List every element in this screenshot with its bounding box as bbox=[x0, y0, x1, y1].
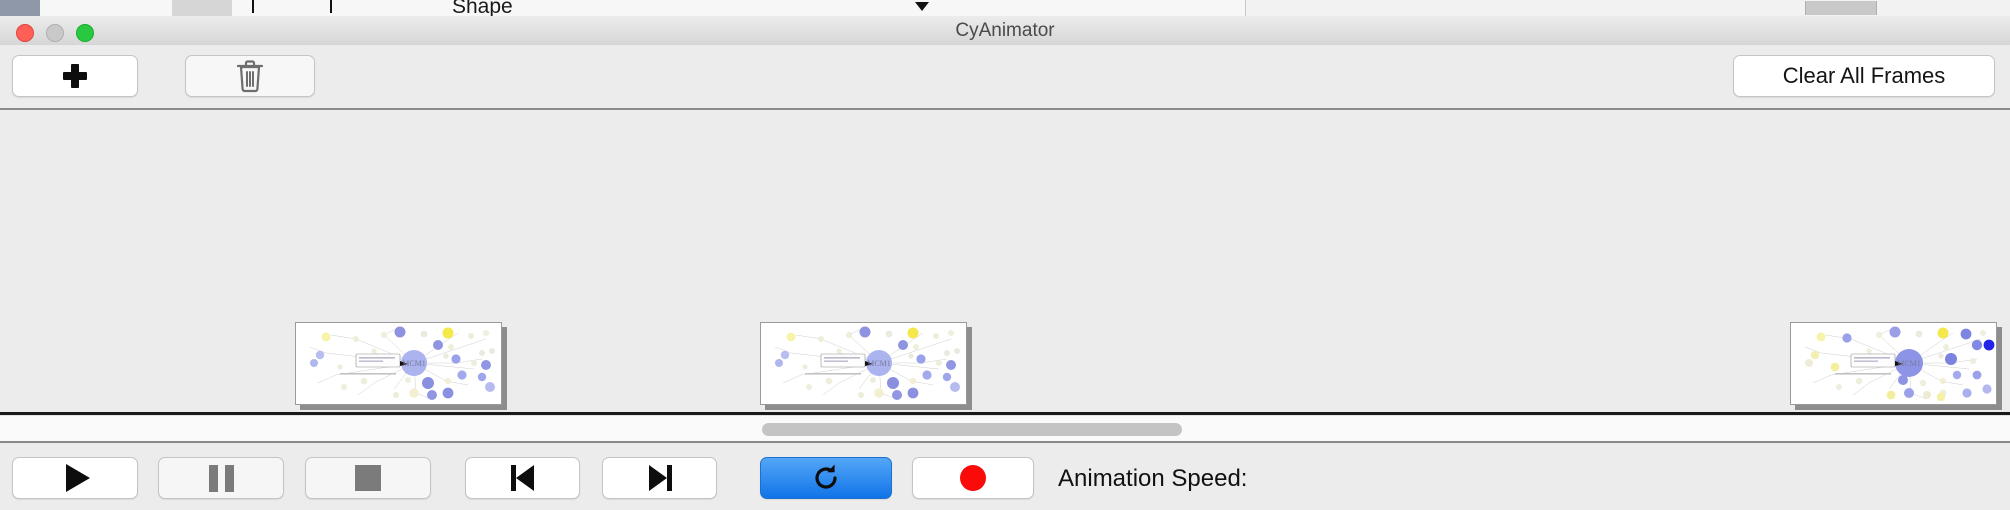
frame-thumbnail[interactable]: MCM1 bbox=[760, 322, 972, 410]
bg-window-label: Shape bbox=[452, 0, 513, 17]
scrollbar-thumb[interactable] bbox=[762, 423, 1182, 436]
record-icon bbox=[960, 465, 986, 491]
background-window-strip: Shape bbox=[0, 0, 2010, 17]
bg-cell bbox=[40, 0, 173, 16]
svg-text:MCM1: MCM1 bbox=[1897, 359, 1921, 368]
bg-cell bbox=[875, 0, 1106, 16]
frame-thumbnail[interactable]: MCM1 bbox=[1790, 322, 2002, 410]
pause-icon bbox=[209, 465, 234, 492]
loop-icon bbox=[811, 463, 841, 493]
stop-button[interactable] bbox=[305, 457, 431, 499]
record-button[interactable] bbox=[912, 457, 1034, 499]
clear-all-frames-button[interactable]: Clear All Frames bbox=[1733, 55, 1995, 97]
network-thumbnail-icon: MCM1 bbox=[761, 323, 966, 404]
cyanimator-window: Shape CyAnimator Clear All Frames bbox=[0, 0, 2010, 510]
frame-sheet: MCM1 bbox=[1790, 322, 1997, 405]
skip-forward-icon bbox=[647, 465, 673, 491]
bg-cell bbox=[232, 0, 301, 16]
pause-button[interactable] bbox=[158, 457, 284, 499]
transport-bar: Animation Speed: bbox=[0, 445, 2010, 510]
maximize-icon[interactable] bbox=[76, 24, 94, 42]
bg-scrollbar bbox=[1805, 1, 1877, 15]
bg-cell bbox=[695, 0, 876, 16]
last-frame-button[interactable] bbox=[602, 457, 717, 499]
bg-tick bbox=[252, 0, 254, 13]
titlebar: CyAnimator bbox=[0, 16, 2010, 46]
frame-sheet: MCM1 bbox=[760, 322, 967, 405]
plus-icon bbox=[62, 63, 88, 89]
delete-frame-button[interactable] bbox=[185, 55, 315, 97]
minimize-icon[interactable] bbox=[46, 24, 64, 42]
frame-sheet: MCM1 bbox=[295, 322, 502, 405]
bg-sort-arrow-icon bbox=[915, 2, 929, 11]
clear-all-frames-label: Clear All Frames bbox=[1783, 63, 1946, 89]
bg-cell bbox=[0, 0, 41, 16]
bg-tick bbox=[330, 0, 332, 13]
frame-thumbnail[interactable]: MCM1 bbox=[295, 322, 507, 410]
timeline-scrollbar[interactable] bbox=[0, 415, 2010, 443]
play-icon bbox=[66, 464, 90, 492]
svg-text:MCM1: MCM1 bbox=[402, 359, 426, 368]
network-thumbnail-icon: MCM1 bbox=[296, 323, 501, 404]
add-frame-button[interactable] bbox=[12, 55, 138, 97]
svg-text:MCM1: MCM1 bbox=[867, 359, 891, 368]
bg-cell bbox=[1105, 0, 1246, 16]
close-icon[interactable] bbox=[16, 24, 34, 42]
toolbar: Clear All Frames bbox=[0, 45, 2010, 110]
stop-icon bbox=[355, 465, 381, 491]
first-frame-button[interactable] bbox=[465, 457, 580, 499]
skip-back-icon bbox=[510, 465, 536, 491]
bg-cell bbox=[300, 0, 431, 16]
play-button[interactable] bbox=[12, 457, 138, 499]
bg-cell bbox=[172, 0, 233, 16]
window-title: CyAnimator bbox=[0, 16, 2010, 45]
animation-speed-label: Animation Speed: bbox=[1058, 465, 1247, 493]
network-thumbnail-icon: MCM1 bbox=[1791, 323, 1996, 404]
trash-icon bbox=[235, 59, 265, 93]
loop-button[interactable] bbox=[760, 457, 892, 499]
timeline-panel[interactable]: MCM1 bbox=[0, 110, 2010, 415]
